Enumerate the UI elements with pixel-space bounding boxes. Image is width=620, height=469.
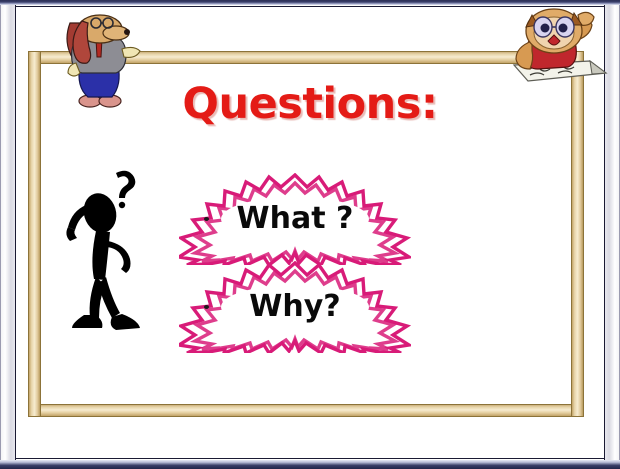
starburst-what: What ? <box>179 173 411 265</box>
slide-canvas[interactable]: Questions: <box>15 6 605 459</box>
owl-character-icon <box>500 7 612 89</box>
thinking-stick-figure-icon <box>62 169 162 344</box>
starburst-what-label: What ? <box>179 201 411 236</box>
window-bottom-border <box>0 460 620 469</box>
window-top-border <box>0 0 620 5</box>
page-title: Questions: <box>16 79 604 129</box>
slide-viewer: Questions: <box>0 0 620 469</box>
starburst-why-label: Why? <box>179 289 411 324</box>
frame-bar-bottom <box>28 404 584 417</box>
starburst-why: Why? <box>179 261 411 353</box>
left-scroll-rail[interactable] <box>0 5 16 460</box>
